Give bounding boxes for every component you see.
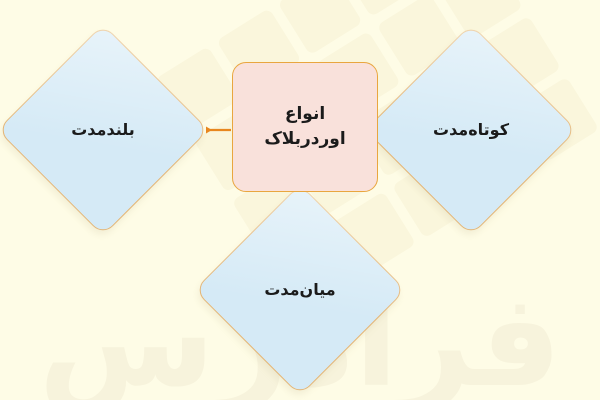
node-center-order-block[interactable]: انواع اوردربلاک (232, 62, 378, 192)
node-mid-term-label: میان‌مدت (225, 278, 375, 302)
node-center-label-line2: اوردربلاک (264, 129, 345, 149)
node-center-label: انواع اوردربلاک (264, 102, 345, 153)
node-center-label-line1: انواع (285, 104, 325, 124)
node-long-term[interactable]: بلندمدت (28, 55, 178, 205)
node-long-term-label: بلندمدت (28, 118, 178, 142)
node-mid-term[interactable]: میان‌مدت (225, 215, 375, 365)
node-short-term[interactable]: کوتاه‌مدت (396, 55, 546, 205)
diagram-canvas: فرادرس انواع اوردربلاک بلندمدت (0, 0, 600, 400)
node-short-term-label: کوتاه‌مدت (396, 118, 546, 142)
